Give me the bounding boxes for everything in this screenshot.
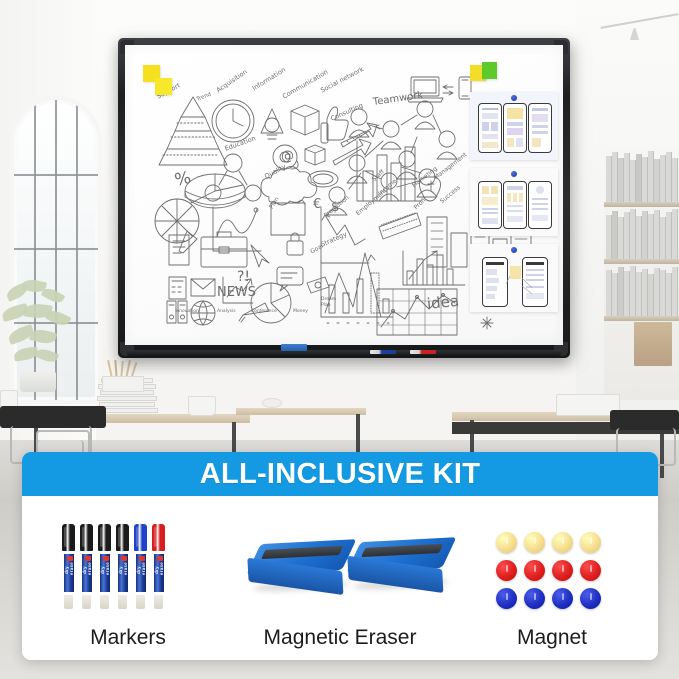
doodle-padlock bbox=[287, 233, 303, 255]
doodle-pie-3d bbox=[185, 174, 245, 208]
marker-cap bbox=[116, 524, 129, 551]
doodle-text-25: $ bbox=[331, 200, 339, 215]
doodle-bar-chart bbox=[357, 141, 421, 201]
marker-barrel: dry erase bbox=[64, 554, 74, 592]
kit-panel-title: ALL-INCLUSIVE KIT bbox=[200, 458, 481, 491]
kit-panel-body: dry erasedry erasedry erasedry erasedry … bbox=[22, 496, 658, 660]
bookshelf bbox=[604, 150, 679, 400]
marker-black-3: dry erase bbox=[98, 524, 111, 610]
sticky-note-green-1 bbox=[482, 62, 497, 79]
paper-tray-left bbox=[188, 396, 216, 416]
marker-barrel: dry erase bbox=[136, 554, 146, 592]
doodle-banner bbox=[379, 213, 421, 239]
doodle-box-small bbox=[305, 145, 325, 165]
doodle-document bbox=[169, 231, 197, 265]
magnet-r1-c3 bbox=[552, 532, 573, 553]
markers-illustration: dry erasedry erasedry erasedry erasedry … bbox=[22, 514, 234, 624]
doodle-text-24: € bbox=[313, 197, 321, 212]
magnet-r3-c1 bbox=[496, 588, 517, 609]
tray-eraser[interactable] bbox=[281, 344, 307, 351]
doodle-briefcase bbox=[201, 232, 247, 267]
book-row bbox=[606, 264, 679, 316]
magnet-r3-c2 bbox=[524, 588, 545, 609]
marker-nib bbox=[154, 595, 163, 609]
tray-marker-red[interactable] bbox=[410, 350, 436, 354]
doodle-coffee-cup bbox=[308, 171, 338, 187]
phone-mockup bbox=[503, 103, 527, 153]
kit-column-eraser: Magnetic Eraser bbox=[234, 496, 446, 660]
magnet-r3-c3 bbox=[552, 588, 573, 609]
doodle-text-31: Money bbox=[293, 309, 308, 314]
doodle-speech-bubble bbox=[277, 267, 303, 291]
doodle-cube bbox=[291, 105, 319, 135]
magnetic-eraser-1 bbox=[247, 539, 358, 599]
marker-brand-badge bbox=[67, 556, 73, 561]
doodle-text-27: @ bbox=[281, 149, 294, 164]
phone-mockup bbox=[478, 103, 502, 153]
doodle-banknote bbox=[307, 277, 329, 293]
doodle-text-30: Conference bbox=[251, 309, 277, 314]
book-row bbox=[606, 150, 679, 202]
doodle-curve-chart bbox=[213, 207, 261, 251]
marker-barrel: dry erase bbox=[118, 554, 128, 592]
magnet-r1-c4 bbox=[580, 532, 601, 553]
doodle-wheel bbox=[155, 199, 199, 243]
doodle-sparkle bbox=[481, 317, 493, 329]
marker-brand-text: dry erase bbox=[64, 565, 74, 575]
doodle-text-23: ?! bbox=[237, 269, 250, 285]
magnet-label: Magnet bbox=[517, 626, 587, 650]
doodle-text-22: idea bbox=[426, 292, 460, 313]
kit-column-markers: dry erasedry erasedry erasedry erasedry … bbox=[22, 496, 234, 660]
marker-black-2: dry erase bbox=[80, 524, 93, 610]
phone-mockup bbox=[528, 103, 552, 153]
marker-nib bbox=[82, 595, 91, 609]
kit-panel-header: ALL-INCLUSIVE KIT bbox=[22, 452, 658, 496]
eraser-illustration bbox=[234, 514, 446, 624]
doodle-arrow bbox=[341, 123, 377, 147]
book-row bbox=[606, 207, 679, 259]
marker-brand-text: dry erase bbox=[118, 565, 128, 575]
wireframe-sheet-1[interactable] bbox=[470, 92, 558, 160]
marker-brand-badge bbox=[139, 556, 145, 561]
marker-nib bbox=[100, 595, 109, 609]
phone-mockup bbox=[528, 181, 552, 229]
wireframe-sheet-2[interactable] bbox=[470, 168, 558, 236]
doodle-text-33: Plan bbox=[321, 303, 331, 308]
marker-brand-text: dry erase bbox=[82, 565, 92, 575]
magnet-r2-c4 bbox=[580, 560, 601, 581]
doodle-mountain-chart bbox=[321, 253, 393, 323]
cardboard-box bbox=[634, 322, 672, 366]
magnet-r2-c1 bbox=[496, 560, 517, 581]
marker-black-1: dry erase bbox=[62, 524, 75, 610]
magnet-r2-c2 bbox=[524, 560, 545, 581]
tray-marker-blue[interactable] bbox=[370, 350, 396, 354]
marker-brand-text: dry erase bbox=[154, 565, 164, 575]
magnet-illustration bbox=[446, 514, 658, 624]
sheet-pin-1 bbox=[511, 95, 517, 101]
marker-brand-badge bbox=[103, 556, 109, 561]
desk-left-2 bbox=[236, 408, 366, 415]
magnet-r1-c1 bbox=[496, 532, 517, 553]
sticky-note-yellow-2 bbox=[155, 78, 172, 95]
whiteboard[interactable]: SupportTrendAcquisitionInformationCommun… bbox=[118, 38, 570, 358]
magnet-r3-c4 bbox=[580, 588, 601, 609]
marker-black-4: dry erase bbox=[116, 524, 129, 610]
marker-brand-text: dry erase bbox=[100, 565, 110, 575]
doodle-lightbulb bbox=[261, 109, 283, 139]
pencil-holder bbox=[102, 376, 144, 392]
doodle-bar-chart-2 bbox=[403, 251, 465, 285]
sheet-pin-2 bbox=[511, 171, 517, 177]
whiteboard-marker-tray bbox=[127, 350, 561, 357]
marker-brand-badge bbox=[157, 556, 163, 561]
product-scene: SupportTrendAcquisitionInformationCommun… bbox=[0, 0, 679, 679]
doodle-calculator bbox=[169, 277, 186, 299]
marker-nib bbox=[118, 595, 127, 609]
plant-pot bbox=[20, 372, 56, 392]
marker-red-6: dry erase bbox=[152, 524, 165, 610]
marker-brand-text: dry erase bbox=[136, 565, 146, 575]
doodle-arrow-hatched bbox=[333, 139, 371, 165]
magnetic-eraser-2 bbox=[347, 537, 458, 597]
phone-mockup bbox=[503, 181, 527, 229]
wireframe-sheet-3[interactable] bbox=[470, 244, 558, 312]
kit-column-magnet: Magnet bbox=[446, 496, 658, 660]
marker-barrel: dry erase bbox=[154, 554, 164, 592]
marker-blue-5: dry erase bbox=[134, 524, 147, 610]
marker-brand-badge bbox=[85, 556, 91, 561]
desk-bowl bbox=[262, 398, 282, 408]
doodle-text-21: NEWS bbox=[217, 285, 256, 300]
all-inclusive-kit-panel: ALL-INCLUSIVE KIT dry erasedry erasedry … bbox=[22, 452, 658, 660]
marker-barrel: dry erase bbox=[100, 554, 110, 592]
marker-nib bbox=[64, 595, 73, 609]
doodle-text-29: Analysis bbox=[217, 309, 236, 314]
phone-mockup bbox=[478, 181, 502, 229]
marker-cap bbox=[62, 524, 75, 551]
magnet-r2-c3 bbox=[552, 560, 573, 581]
doodle-text-28: Innovation bbox=[175, 309, 199, 314]
marker-barrel: dry erase bbox=[82, 554, 92, 592]
doodle-envelope bbox=[191, 279, 215, 296]
marker-cap bbox=[134, 524, 147, 551]
marker-brand-badge bbox=[121, 556, 127, 561]
eraser-label: Magnetic Eraser bbox=[264, 626, 417, 650]
magnet-r1-c2 bbox=[524, 532, 545, 553]
doodle-cursor bbox=[251, 245, 269, 267]
marker-cap bbox=[80, 524, 93, 551]
doodle-text-32: Dream bbox=[321, 297, 336, 302]
marker-cap bbox=[98, 524, 111, 551]
doodle-sync-arrow bbox=[443, 85, 453, 89]
marker-cap bbox=[152, 524, 165, 551]
markers-label: Markers bbox=[90, 626, 166, 650]
marker-nib bbox=[136, 595, 145, 609]
